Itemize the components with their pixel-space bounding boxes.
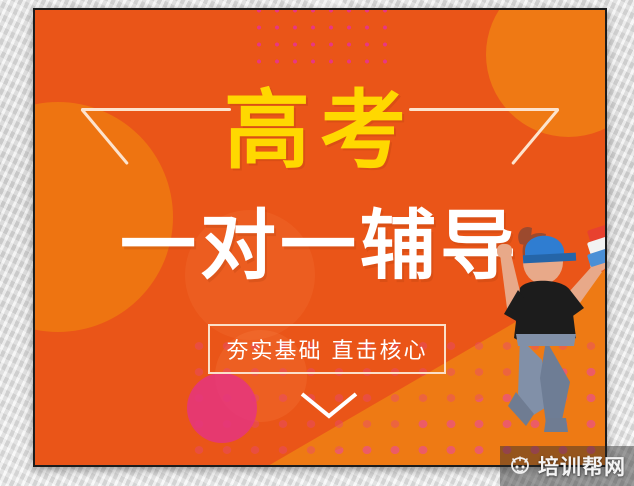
chevron-down-icon <box>298 388 360 422</box>
dot-grid-top <box>250 8 390 66</box>
tagline-box: 夯实基础 直击核心 <box>208 324 446 374</box>
books-icon <box>587 222 607 268</box>
watermark: 培训帮网 <box>500 446 634 486</box>
waistband <box>516 334 576 346</box>
sun-face-icon <box>508 454 532 478</box>
left-hand <box>497 244 512 258</box>
watermark-text: 培训帮网 <box>538 451 626 481</box>
circle-decor-magenta <box>187 373 257 443</box>
right-shoe <box>544 418 568 432</box>
student-figure-svg <box>490 220 607 467</box>
promo-banner: 高考 一对一辅导 夯实基础 直击核心 <box>33 8 607 467</box>
right-leg <box>540 340 570 424</box>
jumping-student-illustration <box>490 220 607 467</box>
headline-text: 高考 <box>35 88 605 174</box>
tagline-text: 夯实基础 直击核心 <box>227 333 428 365</box>
